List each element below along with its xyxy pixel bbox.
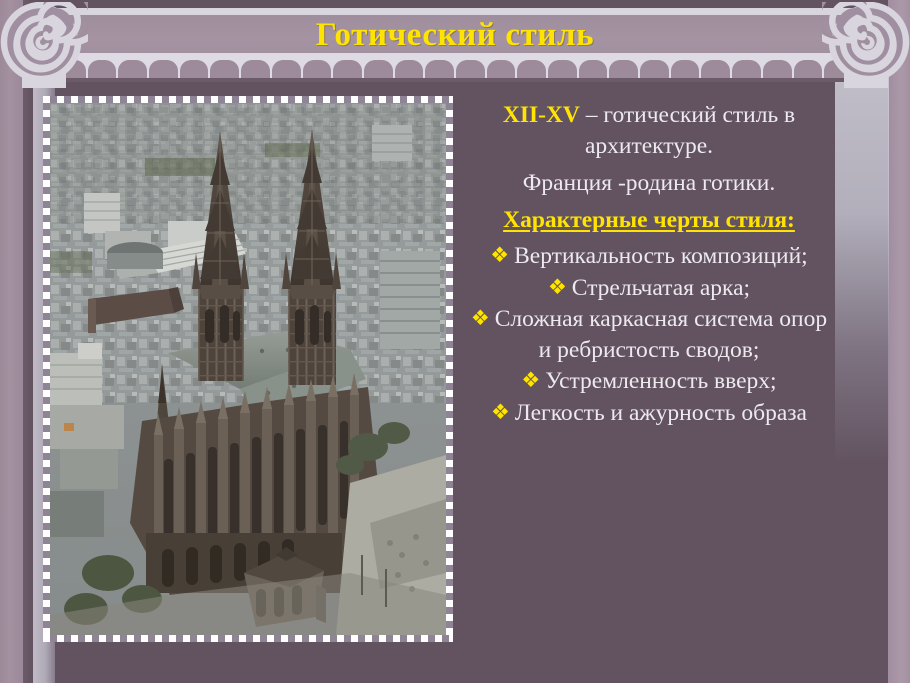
- scallop-arch: [333, 60, 362, 80]
- list-item: ❖Стрельчатая арка;: [462, 273, 836, 304]
- section-heading: Характерные черты стиля:: [462, 205, 836, 236]
- photo-frame: [43, 96, 453, 642]
- list-item: ❖Сложная каркасная система опор и ребрис…: [462, 304, 836, 365]
- diamond-bullet-icon: ❖: [471, 306, 490, 330]
- lead-rest: – готический стиль в архитектуре.: [580, 102, 795, 159]
- scallop-arch: [210, 60, 239, 80]
- right-highlight-strip: [835, 60, 889, 460]
- scallop-arch: [180, 60, 209, 80]
- scallop-arch: [272, 60, 301, 80]
- slide-title: Готический стиль: [56, 11, 854, 59]
- subline: Франция -родина готики.: [462, 168, 836, 199]
- list-item: ❖Вертикальность композиций;: [462, 241, 836, 272]
- scallop-arch: [487, 60, 516, 80]
- scallop-arch: [303, 60, 332, 80]
- diamond-bullet-icon: ❖: [521, 368, 540, 392]
- scallop-ornament-row: [56, 60, 854, 80]
- slide-body: XII-XV – готический стиль в архитектуре.…: [462, 100, 836, 429]
- scallop-row: [56, 60, 854, 80]
- list-item-label: Легкость и ажурность образа: [515, 400, 807, 426]
- scallop-arch: [701, 60, 730, 80]
- scallop-arch: [671, 60, 700, 80]
- diamond-bullet-icon: ❖: [491, 400, 510, 424]
- right-edge-band: [888, 0, 910, 683]
- scallop-arch: [517, 60, 546, 80]
- scallop-arch: [118, 60, 147, 80]
- diamond-bullet-icon: ❖: [490, 243, 509, 267]
- scallop-arch: [579, 60, 608, 80]
- banner-base-shadow: [56, 78, 854, 82]
- scallop-arch: [548, 60, 577, 80]
- lead-paragraph: XII-XV – готический стиль в архитектуре.: [462, 100, 836, 161]
- list-item-label: Устремленность вверх;: [545, 368, 776, 394]
- scallop-arch: [456, 60, 485, 80]
- cathedral-photo: [50, 103, 446, 635]
- scallop-arch: [732, 60, 761, 80]
- list-item: ❖Легкость и ажурность образа: [462, 398, 836, 429]
- scallop-arch: [763, 60, 792, 80]
- scallop-arch: [425, 60, 454, 80]
- scallop-arch: [364, 60, 393, 80]
- scallop-arch: [149, 60, 178, 80]
- list-item-label: Вертикальность композиций;: [514, 243, 808, 269]
- left-edge-band: [0, 0, 23, 683]
- left-inner-band: [23, 0, 33, 683]
- scallop-arch: [88, 60, 117, 80]
- scallop-arch: [609, 60, 638, 80]
- diamond-bullet-icon: ❖: [548, 275, 567, 299]
- period-highlight: XII-XV: [503, 102, 580, 128]
- list-item-label: Сложная каркасная система опор и ребрист…: [495, 306, 827, 363]
- scallop-arch: [241, 60, 270, 80]
- presentation-slide: Готический стиль: [0, 0, 910, 683]
- scallop-arch: [395, 60, 424, 80]
- list-item-label: Стрельчатая арка;: [572, 275, 750, 301]
- list-item: ❖Устремленность вверх;: [462, 366, 836, 397]
- scallop-arch: [640, 60, 669, 80]
- scallop-arch: [794, 60, 823, 80]
- title-banner: Готический стиль: [0, 0, 910, 78]
- features-list: ❖Вертикальность композиций; ❖Стрельчатая…: [462, 241, 836, 428]
